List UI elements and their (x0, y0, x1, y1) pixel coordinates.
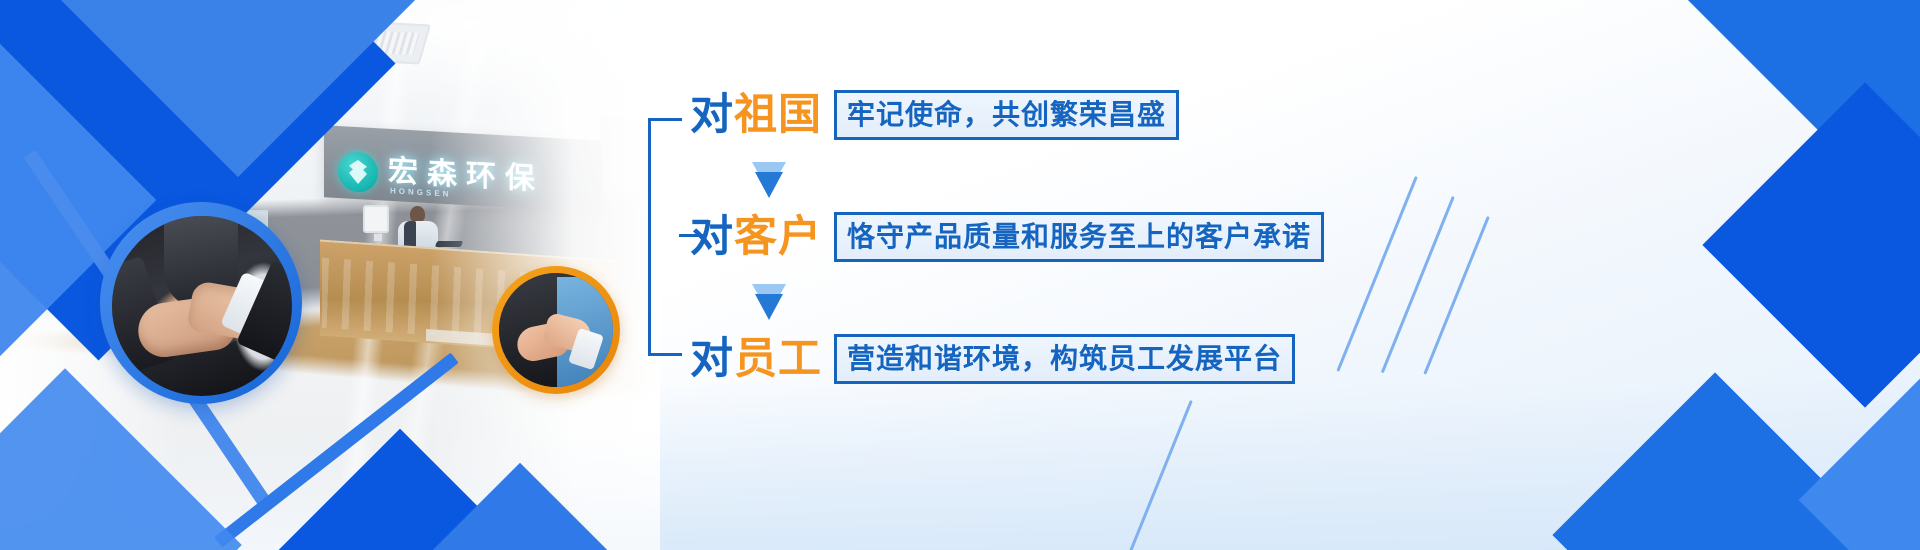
bracket-connector (648, 118, 682, 356)
value-heading-target: 员工 (734, 335, 822, 383)
value-heading: 对祖国 (690, 94, 822, 137)
value-row-country: 对祖国 牢记使命，共创繁荣昌盛 (690, 90, 1179, 140)
value-statement-box: 营造和谐环境，构筑员工发展平台 (834, 334, 1295, 384)
value-row-employee: 对员工 营造和谐环境，构筑员工发展平台 (690, 334, 1295, 384)
handshake-photo-icon (112, 216, 292, 396)
value-heading: 对员工 (690, 338, 822, 381)
values-content: 对祖国 牢记使命，共创繁荣昌盛 对客户 恪守产品质量和服务至上的客户承诺 对员工… (648, 76, 1668, 406)
value-heading-target: 客户 (734, 213, 822, 261)
value-heading-prefix: 对 (690, 213, 734, 261)
applause-hands-photo-icon (499, 273, 613, 387)
value-heading: 对客户 (690, 216, 822, 259)
value-statement-box: 恪守产品质量和服务至上的客户承诺 (834, 212, 1324, 262)
value-row-customer: 对客户 恪守产品质量和服务至上的客户承诺 (690, 212, 1324, 262)
value-heading-prefix: 对 (690, 335, 734, 383)
chevron-down-triangle-icon (752, 162, 786, 198)
value-heading-prefix: 对 (690, 91, 734, 139)
arrow-bottom-triangle (755, 172, 783, 198)
arrow-top-wedge (752, 284, 786, 295)
value-statement-box: 牢记使命，共创繁荣昌盛 (834, 90, 1179, 140)
value-heading-target: 祖国 (734, 91, 822, 139)
arrow-bottom-triangle (755, 294, 783, 320)
chevron-down-triangle-icon (752, 284, 786, 320)
monitor (363, 205, 389, 233)
company-values-banner: 宏森环保 HONGSEN (0, 0, 1920, 550)
arrow-top-wedge (752, 162, 786, 173)
